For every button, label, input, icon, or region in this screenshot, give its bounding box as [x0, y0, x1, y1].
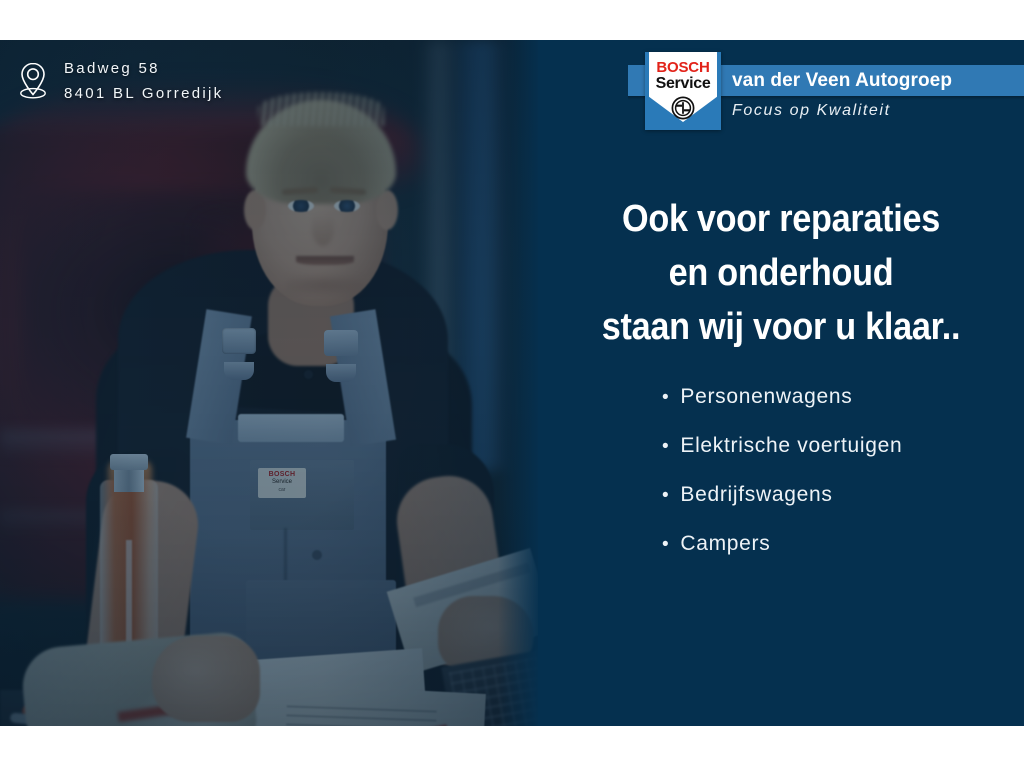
company-name: van der Veen Autogroep: [732, 66, 952, 96]
bullet-icon: •: [662, 436, 669, 457]
bosch-armature-icon: [671, 96, 695, 120]
service-label: Campers: [680, 533, 770, 554]
headline-line-2: en onderhoud: [562, 246, 999, 300]
bullet-icon: •: [662, 485, 669, 506]
bottom-margin: [0, 726, 1024, 768]
service-label: Bedrijfswagens: [680, 484, 832, 505]
headline: Ook voor reparaties en onderhoud staan w…: [538, 192, 1024, 354]
address-postal-city: 8401 BL Gorredijk: [64, 81, 223, 106]
bullet-icon: •: [662, 387, 669, 408]
mechanic-photo: BOSCH Service car: [0, 40, 538, 726]
address-street: Badweg 58: [64, 56, 223, 81]
top-margin: [0, 0, 1024, 40]
address-lines: Badweg 58 8401 BL Gorredijk: [64, 56, 223, 106]
address-overlay: Badweg 58 8401 BL Gorredijk: [16, 56, 223, 106]
headline-line-1: Ook voor reparaties: [562, 192, 999, 246]
list-item: • Campers: [662, 533, 1012, 555]
content-band: BOSCH Service car: [0, 40, 1024, 726]
list-item: • Elektrische voertuigen: [662, 435, 1012, 457]
logo-service-text: Service: [649, 75, 717, 93]
service-label: Elektrische voertuigen: [680, 435, 902, 456]
location-pin-icon: [16, 61, 50, 101]
service-label: Personenwagens: [680, 386, 852, 407]
advertisement-banner: BOSCH Service car: [0, 0, 1024, 768]
list-item: • Bedrijfswagens: [662, 484, 1012, 506]
list-item: • Personenwagens: [662, 386, 1012, 408]
photo-right-edge-fade: [498, 40, 538, 726]
logo-bosch-text: BOSCH: [649, 59, 717, 76]
info-panel: BOSCH Service van der Veen Autogroep Foc…: [538, 40, 1024, 726]
bosch-service-logo: BOSCH Service: [645, 52, 721, 130]
photo-vignette: [0, 40, 538, 726]
company-tagline: Focus op Kwaliteit: [732, 102, 891, 120]
headline-line-3: staan wij voor u klaar..: [562, 300, 999, 354]
bullet-icon: •: [662, 534, 669, 555]
services-list: • Personenwagens • Elektrische voertuige…: [662, 386, 1012, 582]
